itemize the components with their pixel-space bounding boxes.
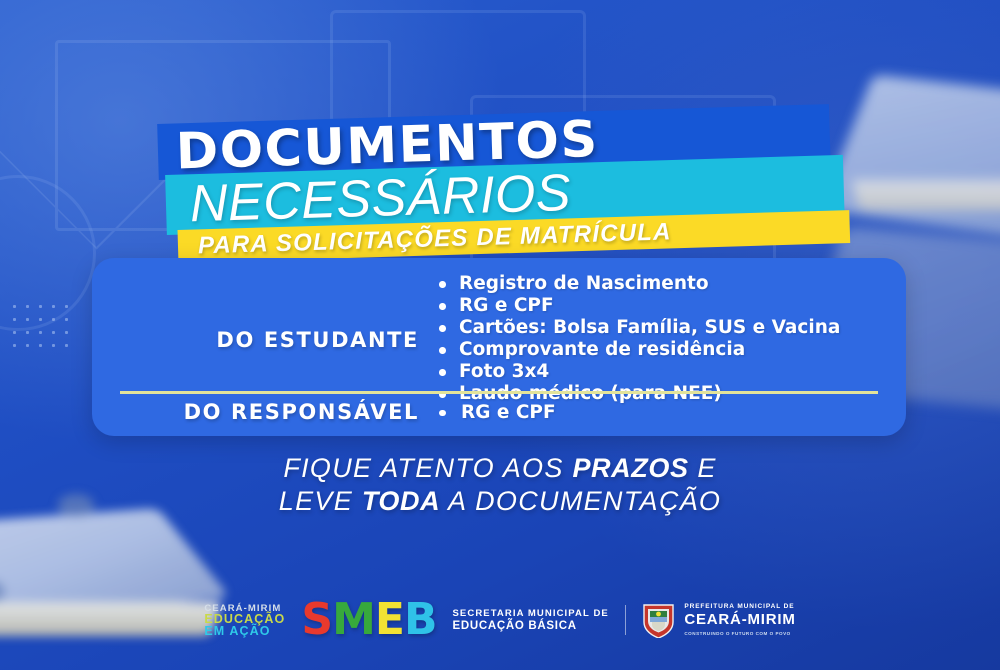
- guardian-section: DO RESPONSÁVEL RG e CPF: [92, 400, 906, 424]
- logo-smeb: SMEB: [301, 598, 436, 642]
- list-item: Foto 3x4: [437, 362, 840, 382]
- smeb-letter-m: M: [332, 594, 375, 645]
- list-item: Registro de Nascimento: [437, 274, 840, 294]
- smeb-letter-b: B: [404, 594, 437, 645]
- section-divider: [120, 391, 878, 394]
- prefeitura-text-block: PREFEITURA MUNICIPAL DE CEARÁ-MIRIM CONS…: [684, 601, 795, 639]
- cta-text-f: A DOCUMENTAÇÃO: [440, 486, 721, 516]
- logo-prefeitura-ceara-mirim: PREFEITURA MUNICIPAL DE CEARÁ-MIRIM CONS…: [642, 601, 795, 639]
- list-item: Cartões: Bolsa Família, SUS e Vacina: [437, 318, 840, 338]
- cta-text-a: FIQUE ATENTO AOS: [283, 453, 572, 483]
- student-document-list: Registro de Nascimento RG e CPF Cartões:…: [437, 274, 840, 406]
- dot-grid-icon: [8, 300, 78, 348]
- documents-card: DO ESTUDANTE Registro de Nascimento RG e…: [92, 258, 906, 436]
- coat-of-arms-icon: [642, 602, 675, 638]
- call-to-action: FIQUE ATENTO AOS PRAZOS E LEVE TODA A DO…: [0, 452, 1000, 518]
- logo-line-em-acao: EM AÇÃO: [204, 626, 270, 638]
- student-section-label: DO ESTUDANTE: [92, 328, 437, 352]
- cta-text-c: E: [689, 453, 717, 483]
- list-item: RG e CPF: [437, 296, 840, 316]
- list-item: Comprovante de residência: [437, 340, 840, 360]
- prefeitura-line-2: CEARÁ-MIRIM: [684, 612, 795, 628]
- prefeitura-line-3: CONSTRUINDO O FUTURO COM O POVO: [684, 628, 790, 639]
- cta-line-2: LEVE TODA A DOCUMENTAÇÃO: [0, 485, 1000, 518]
- secretaria-line-1: SECRETARIA MUNICIPAL DE: [452, 608, 608, 620]
- smeb-letter-s: S: [301, 594, 332, 645]
- poster-title-block: DOCUMENTOS NECESSÁRIOS PARA SOLICITAÇÕES…: [0, 120, 1000, 270]
- cta-emphasis-prazos: PRAZOS: [572, 453, 688, 483]
- cta-text-d: LEVE: [279, 486, 362, 516]
- list-item: RG e CPF: [437, 402, 556, 423]
- cta-emphasis-toda: TODA: [362, 486, 440, 516]
- guardian-section-label: DO RESPONSÁVEL: [92, 400, 437, 424]
- logo-ceara-mirim-educacao-em-acao: CEARÁ-MIRIM EDUCAÇÃO EM AÇÃO: [204, 603, 285, 638]
- poster-canvas: DOCUMENTOS NECESSÁRIOS PARA SOLICITAÇÕES…: [0, 0, 1000, 670]
- secretaria-line-2: EDUCAÇÃO BÁSICA: [452, 620, 576, 632]
- smeb-letter-e: E: [375, 594, 404, 645]
- footer-divider: [625, 605, 627, 635]
- cta-line-1: FIQUE ATENTO AOS PRAZOS E: [0, 452, 1000, 485]
- student-section: DO ESTUDANTE Registro de Nascimento RG e…: [92, 274, 906, 406]
- footer-logo-bar: CEARÁ-MIRIM EDUCAÇÃO EM AÇÃO SMEB SECRET…: [0, 594, 1000, 646]
- logo-secretaria-municipal: SECRETARIA MUNICIPAL DE EDUCAÇÃO BÁSICA: [452, 608, 608, 632]
